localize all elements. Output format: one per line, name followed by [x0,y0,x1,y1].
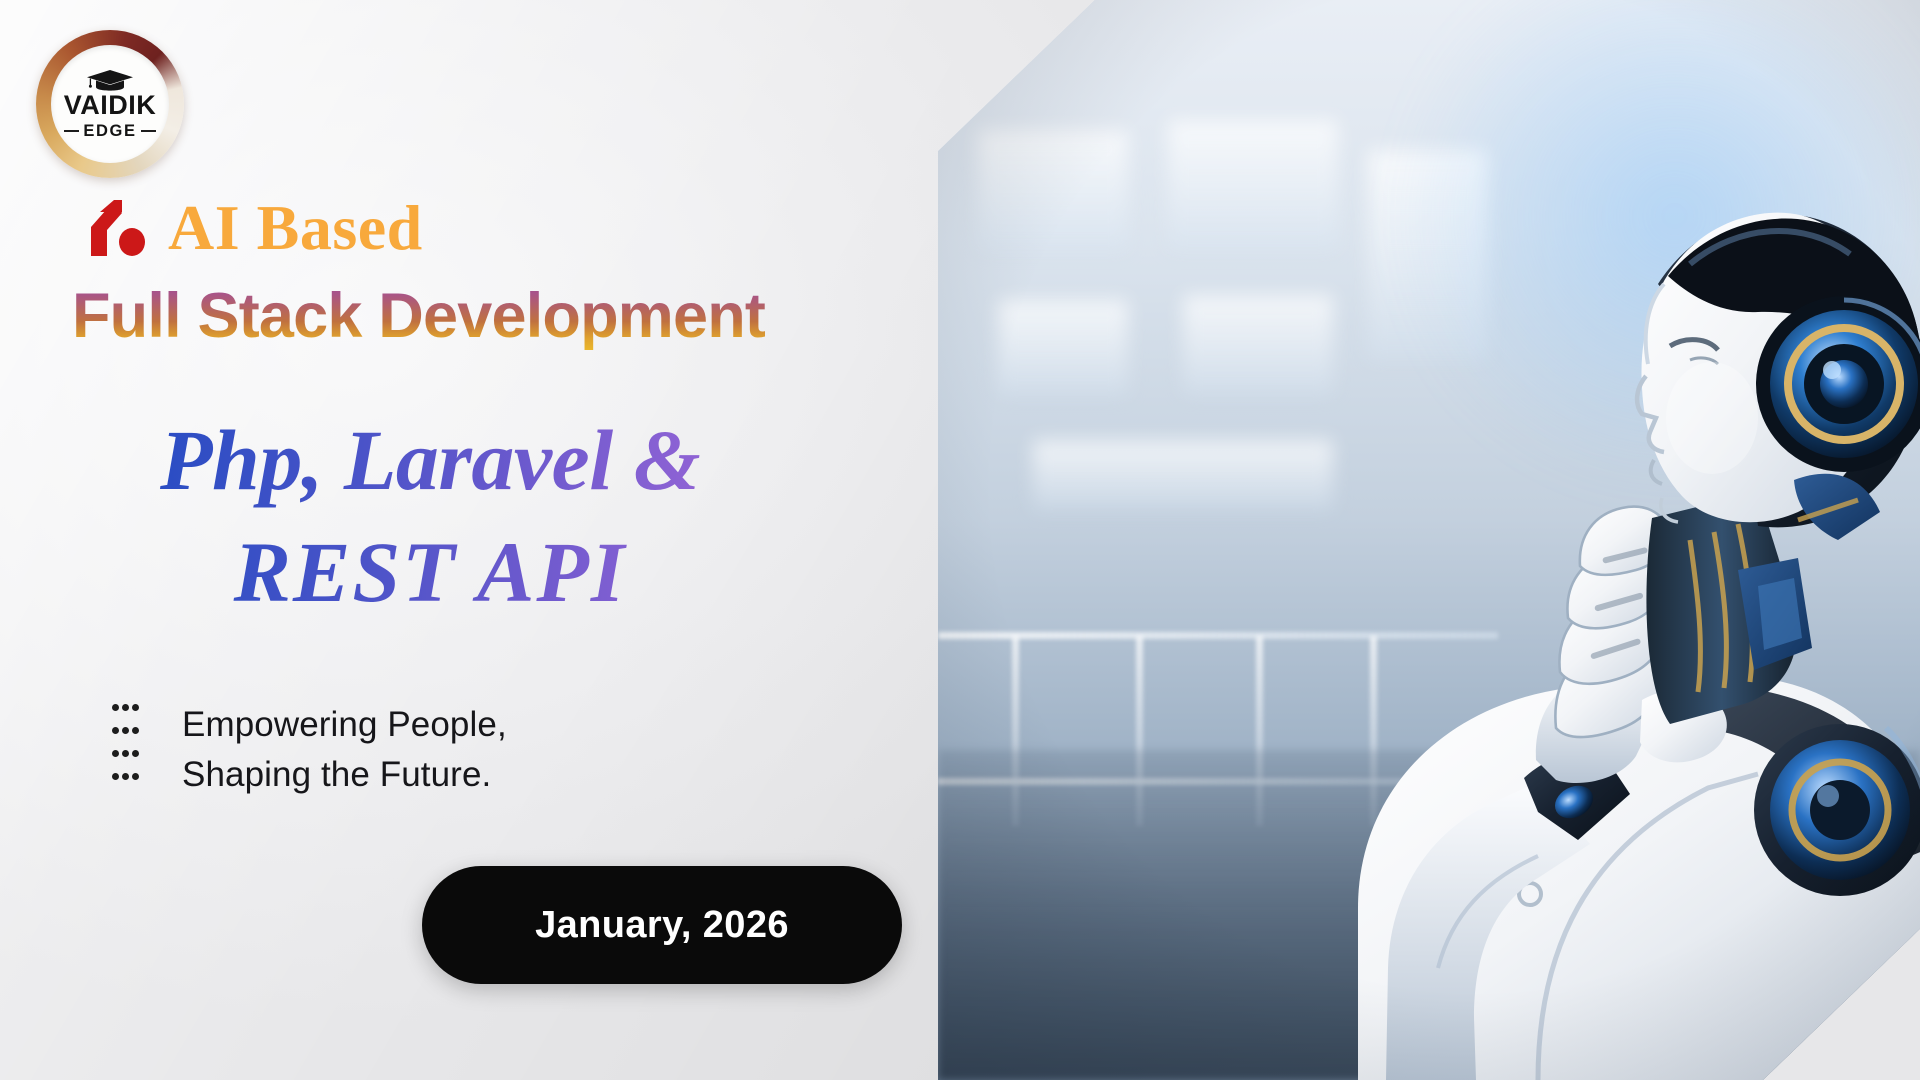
tagline-row: Empowering People, Shaping the Future. [112,700,507,799]
logo-subtitle-row: EDGE [64,123,155,140]
dot-grid-icon [112,704,142,796]
date-cta-label: January, 2026 [535,904,789,947]
logo-subtitle: EDGE [83,123,136,140]
logo-inner: VAIDIK EDGE [51,45,169,163]
date-cta-button[interactable]: January, 2026 [422,866,902,984]
tagline-line-2: Shaping the Future. [182,755,491,794]
tagline-line-1: Empowering People, [182,705,507,744]
robot-photo-panel [938,0,1920,1080]
eyebrow-heading: AI Based [168,196,423,260]
logo-rule-right [141,130,156,132]
headline-tech-line1: Php, Laravel & [0,405,860,517]
headline-tech-line2: REST API [0,517,860,629]
brand-logo[interactable]: VAIDIK EDGE [36,30,184,178]
headline-stack-group: Php, Laravel & REST API [0,405,860,629]
headline-secondary: Full Stack Development [72,282,765,350]
humanoid-robot-figure [1238,88,1920,1080]
left-content-panel: VAIDIK EDGE AI Based Full Stack Developm… [0,0,950,1080]
graduation-cap-icon [85,69,135,91]
red-angular-logo-mark-icon [88,200,146,256]
window-blur-3 [998,300,1128,395]
tagline-text: Empowering People, Shaping the Future. [182,700,507,799]
window-blur-1 [978,130,1128,250]
promo-banner: VAIDIK EDGE AI Based Full Stack Developm… [0,0,1920,1080]
logo-rule-left [64,130,79,132]
eyebrow-heading-row: AI Based [88,196,423,260]
logo-wordmark: VAIDIK [64,92,157,119]
